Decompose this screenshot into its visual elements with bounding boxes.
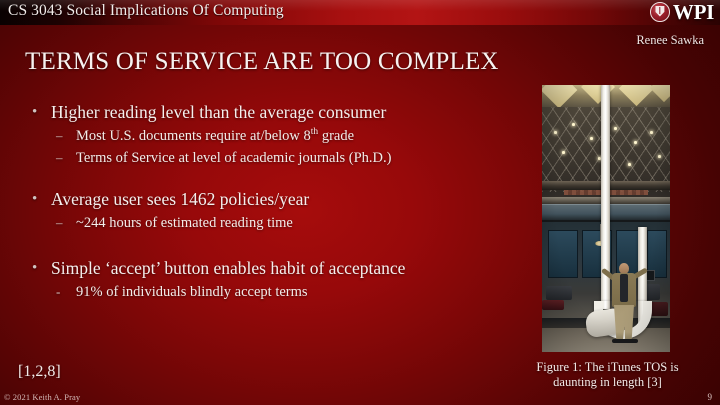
bullet-level2-text: Most U.S. documents require at/below 8: [76, 128, 311, 144]
bullet-level1: • Average user sees 1462 policies/year: [28, 187, 508, 212]
bullet-marker-icon: •: [32, 187, 37, 212]
reference-citations: [1,2,8]: [18, 363, 61, 381]
copyright-notice: © 2021 Keith A. Pray: [4, 392, 80, 402]
ceiling-light: [562, 151, 565, 154]
ceiling-light: [572, 123, 575, 126]
person-shirt: [620, 274, 628, 302]
skylight-panel: [650, 85, 670, 102]
bullet-level2: – Most U.S. documents require at/below 8…: [28, 125, 508, 147]
dash-marker-icon: -: [56, 281, 60, 303]
bullet-level2: – ~244 hours of estimated reading time: [28, 212, 508, 234]
bullet-group-1: • Higher reading level than the average …: [28, 100, 508, 169]
dash-marker-icon: –: [56, 125, 63, 147]
bullet-content: • Higher reading level than the average …: [28, 100, 508, 321]
ceiling-light: [634, 141, 637, 144]
skylight-panel: [619, 85, 654, 106]
slide-root: CS 3043 Social Implications Of Computing…: [0, 0, 720, 405]
bullet-level2-text: ~244 hours of estimated reading time: [76, 215, 293, 231]
ceiling-light: [554, 131, 557, 134]
dash-marker-icon: –: [56, 212, 63, 234]
figure-caption-line2: daunting in length [3]: [500, 375, 715, 390]
bullet-marker-icon: •: [32, 100, 37, 125]
slide-banner: CS 3043 Social Implications Of Computing: [0, 0, 720, 25]
bullet-level1-text: Simple ‘accept’ button enables habit of …: [51, 258, 405, 278]
lobby-window: [548, 230, 578, 278]
lobby-seat: [542, 300, 564, 310]
figure-caption: Figure 1: The iTunes TOS is daunting in …: [500, 360, 715, 390]
bullet-level1: • Higher reading level than the average …: [28, 100, 508, 125]
person-shoes: [612, 339, 638, 343]
bullet-level2: – Terms of Service at level of academic …: [28, 147, 508, 169]
page-title: TERMS OF SERVICE ARE TOO COMPLEX: [25, 48, 499, 76]
course-title: CS 3043 Social Implications Of Computing: [8, 2, 284, 20]
figure-caption-line1: Figure 1: The iTunes TOS is: [500, 360, 715, 375]
figure-image: [542, 85, 670, 352]
ceiling-light: [614, 127, 617, 130]
ceiling-light: [658, 155, 661, 158]
skylight-panel: [542, 85, 577, 108]
ceiling-light: [628, 163, 631, 166]
bullet-level2-text: Terms of Service at level of academic jo…: [76, 150, 391, 166]
ceiling-light: [590, 137, 593, 140]
lobby-seat: [546, 286, 572, 300]
page-number: 9: [708, 392, 713, 402]
author-name: Renee Sawka: [636, 33, 704, 48]
bullet-level1-text: Higher reading level than the average co…: [51, 102, 386, 122]
wpi-logo: WPI: [650, 1, 714, 23]
dash-marker-icon: –: [56, 147, 63, 169]
bullet-level2-text-tail: grade: [318, 128, 354, 144]
bullet-marker-icon: •: [32, 256, 37, 281]
wpi-logo-text: WPI: [673, 1, 714, 23]
ceiling-light: [650, 131, 653, 134]
bullet-group-3: • Simple ‘accept’ button enables habit o…: [28, 256, 508, 303]
bullet-group-2: • Average user sees 1462 policies/year –…: [28, 187, 508, 234]
photo-itunes-tos-scroll: [542, 85, 670, 352]
bullet-level1: • Simple ‘accept’ button enables habit o…: [28, 256, 508, 281]
bullet-level2: - 91% of individuals blindly accept term…: [28, 281, 508, 303]
wpi-shield-seal-icon: [650, 2, 670, 22]
bullet-level1-text: Average user sees 1462 policies/year: [51, 189, 309, 209]
bullet-level2-text: 91% of individuals blindly accept terms: [76, 284, 308, 300]
